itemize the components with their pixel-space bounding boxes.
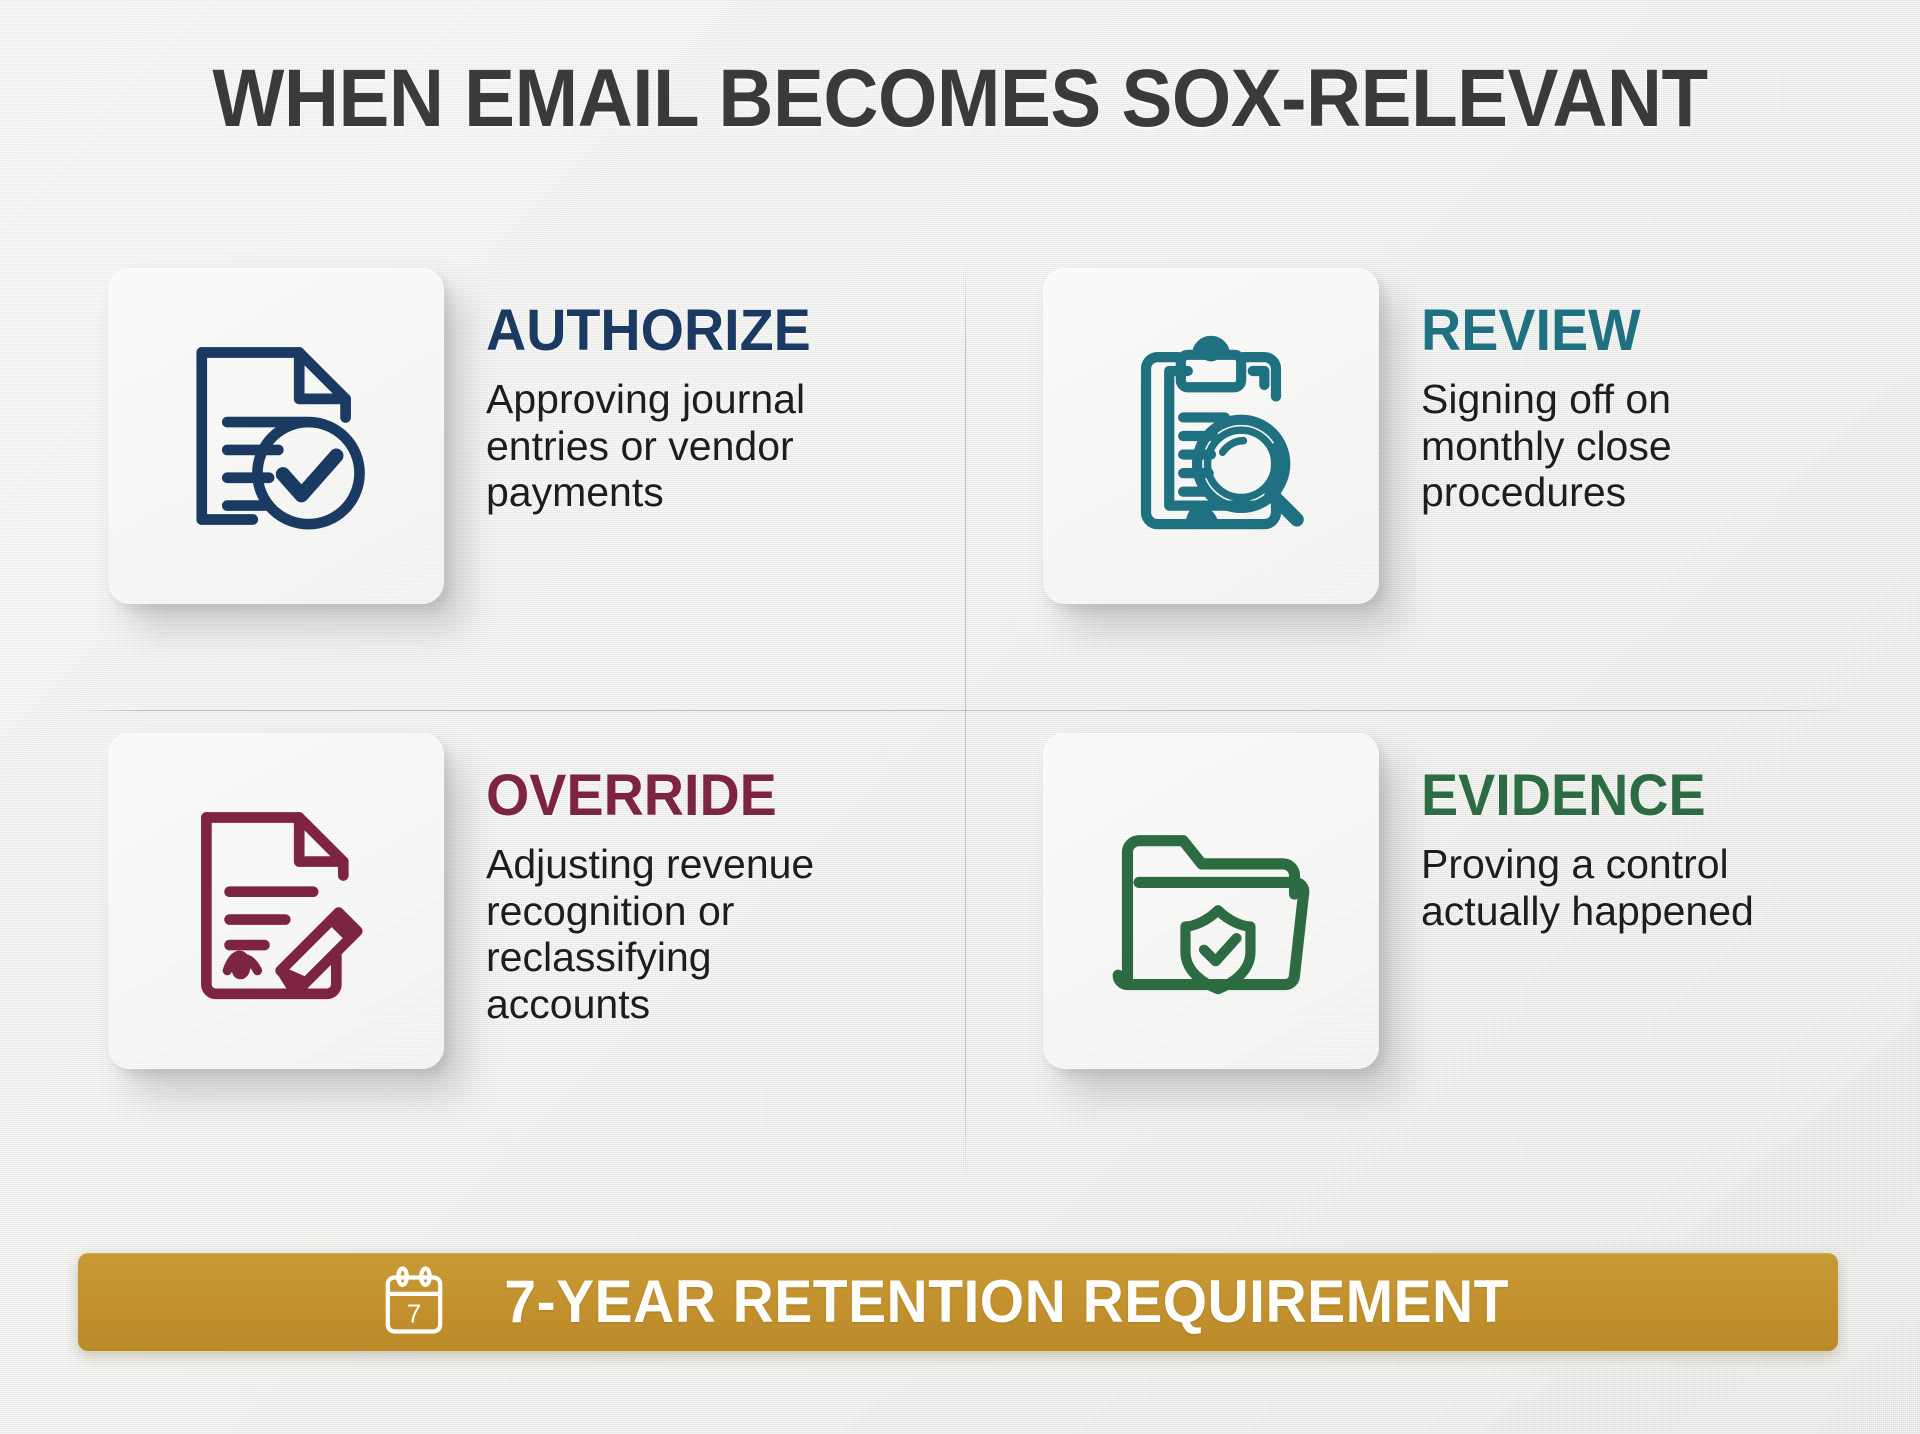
infographic-canvas: WHEN EMAIL BECOMES SOX-RELEVANT: [0, 0, 1920, 1434]
quadrant-evidence: EVIDENCE Proving a control actually happ…: [965, 715, 1860, 1180]
kicker-authorize: AUTHORIZE: [486, 302, 870, 360]
quadrant-authorize: AUTHORIZE Approving journal entries or v…: [70, 250, 965, 715]
text-block-authorize: AUTHORIZE Approving journal entries or v…: [486, 268, 886, 516]
page-title: WHEN EMAIL BECOMES SOX-RELEVANT: [67, 58, 1853, 140]
kicker-review: REVIEW: [1421, 302, 1776, 360]
description-evidence: Proving a control actually happened: [1421, 841, 1791, 934]
retention-banner-text: 7-YEAR RETENTION REQUIREMENT: [505, 1272, 1510, 1332]
description-override: Adjusting revenue recognition or reclass…: [486, 841, 886, 1028]
calendar-number: 7: [407, 1298, 422, 1328]
icon-tile-authorize: [108, 268, 444, 604]
clipboard-magnifier-icon: [1095, 320, 1327, 552]
icon-tile-review: [1043, 268, 1379, 604]
text-block-override: OVERRIDE Adjusting revenue recognition o…: [486, 733, 886, 1028]
document-pencil-signature-icon: [160, 785, 392, 1017]
folder-shield-check-icon: [1095, 785, 1327, 1017]
kicker-evidence: EVIDENCE: [1421, 767, 1776, 825]
document-check-icon: [160, 320, 392, 552]
retention-banner: 7 7-YEAR RETENTION REQUIREMENT: [78, 1253, 1838, 1351]
quadrant-override: OVERRIDE Adjusting revenue recognition o…: [70, 715, 965, 1180]
description-authorize: Approving journal entries or vendor paym…: [486, 376, 886, 516]
text-block-evidence: EVIDENCE Proving a control actually happ…: [1421, 733, 1791, 934]
quadrant-review: REVIEW Signing off on monthly close proc…: [965, 250, 1860, 715]
icon-tile-override: [108, 733, 444, 1069]
icon-tile-evidence: [1043, 733, 1379, 1069]
description-review: Signing off on monthly close procedures: [1421, 376, 1791, 516]
text-block-review: REVIEW Signing off on monthly close proc…: [1421, 268, 1791, 516]
calendar-icon: 7: [380, 1266, 448, 1338]
kicker-override: OVERRIDE: [486, 767, 870, 825]
quadrant-grid: AUTHORIZE Approving journal entries or v…: [70, 250, 1860, 1180]
